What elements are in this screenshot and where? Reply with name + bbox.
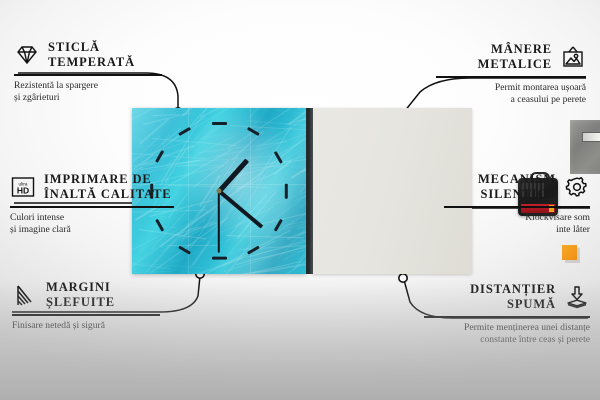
callout-header: MÂNEREMETALICE	[436, 42, 586, 72]
ultra-hd-icon: ultra HD	[10, 175, 36, 199]
callout-subtitle: Rezistentă la spargereși zgârieturi	[14, 80, 164, 104]
callout-subtitle: Permite menținerea unei distanțeconstant…	[424, 322, 590, 346]
callout-header: MARGINIȘLEFUITE	[12, 280, 162, 310]
callout-subtitle: Permit montarea ușoarăa ceasului pe pere…	[436, 82, 586, 106]
callout-header: MECANISMSILENȚIOS	[444, 172, 590, 202]
arrow-down-layers-icon	[564, 285, 590, 309]
svg-text:HD: HD	[17, 186, 29, 196]
callout-rule	[10, 206, 174, 208]
second-hand	[218, 191, 220, 253]
callout-subtitle: Culori intenseși imagine clară	[10, 212, 176, 236]
callout-title: MECANISMSILENȚIOS	[478, 172, 556, 202]
callout-title: MÂNEREMETALICE	[478, 42, 552, 72]
clock-product-photo	[132, 108, 472, 274]
callout-subtitle: Klockvisare sominte låter	[444, 212, 590, 236]
foam-spacer-block	[562, 245, 577, 260]
callout-rule	[444, 206, 590, 208]
callout-tempered-glass: STICLĂTEMPERATĂ Rezistentă la spargereși…	[14, 40, 164, 104]
callout-silent-mechanism: MECANISMSILENȚIOS Klockvisare sominte lå…	[444, 172, 590, 236]
endpoint-foam-spacer	[399, 274, 407, 282]
clock-center-cap	[217, 189, 222, 194]
callout-rule	[12, 314, 160, 316]
hanger-slot	[582, 132, 600, 142]
callout-metal-handles: MÂNEREMETALICE Permit montarea ușoarăa c…	[436, 42, 586, 106]
diamond-icon	[14, 43, 40, 67]
gear-icon	[564, 175, 590, 199]
callout-title: MARGINIȘLEFUITE	[46, 280, 115, 310]
callout-rule	[424, 316, 590, 318]
polished-edge-icon	[12, 283, 38, 307]
callout-subtitle: Finisare netedă și sigură	[12, 320, 162, 332]
callout-title: STICLĂTEMPERATĂ	[48, 40, 135, 70]
callout-foam-spacer: DISTANȚIERSPUMĂ Permite menținerea unei …	[424, 282, 590, 346]
callout-title: IMPRIMARE DEÎNALTĂ CALITATE	[44, 172, 172, 202]
framed-picture-hanging-icon	[560, 45, 586, 69]
callout-rule	[436, 76, 586, 78]
infographic-canvas: STICLĂTEMPERATĂ Rezistentă la spargereși…	[0, 0, 600, 400]
callout-header: STICLĂTEMPERATĂ	[14, 40, 164, 70]
metal-hanger-plate	[570, 120, 600, 174]
callout-header: DISTANȚIERSPUMĂ	[424, 282, 590, 312]
callout-rule	[14, 74, 162, 76]
callout-title: DISTANȚIERSPUMĂ	[470, 282, 556, 312]
callout-high-quality-print: ultra HD IMPRIMARE DEÎNALTĂ CALITATE Cul…	[10, 172, 176, 236]
callout-polished-edges: MARGINIȘLEFUITE Finisare netedă și sigur…	[12, 280, 162, 332]
callout-header: ultra HD IMPRIMARE DEÎNALTĂ CALITATE	[10, 172, 176, 202]
